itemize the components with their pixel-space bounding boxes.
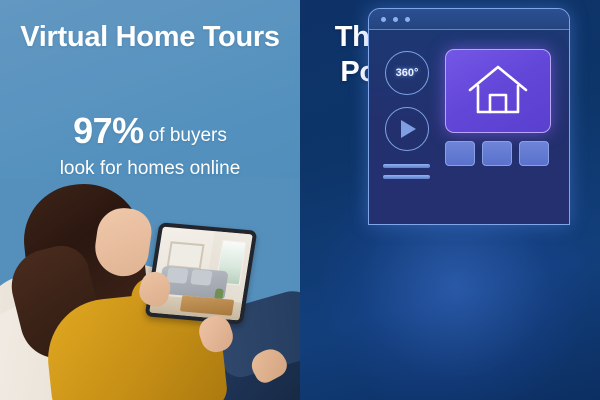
thumbnail-item[interactable] xyxy=(482,141,512,166)
badge-360-icon[interactable]: 360° xyxy=(385,51,429,95)
left-photo xyxy=(0,178,300,400)
room-cushion-right xyxy=(190,269,212,286)
device-illustration: 360° xyxy=(368,8,570,225)
infographic-canvas: Virtual Home Tours 97%of buyers look for… xyxy=(0,0,600,400)
room-cushion-left xyxy=(166,267,188,284)
detail-bar xyxy=(383,175,430,179)
window-dot-icon xyxy=(381,17,386,22)
right-panel: The New Starting Point for Buyers 43%sta… xyxy=(300,0,600,400)
room-plant xyxy=(214,288,224,299)
device-titlebar xyxy=(369,9,569,30)
left-panel: Virtual Home Tours 97%of buyers look for… xyxy=(0,0,300,400)
house-icon xyxy=(446,50,550,132)
photo-tablet-screen xyxy=(149,227,252,321)
detail-bar xyxy=(383,164,430,168)
play-button-icon[interactable] xyxy=(385,107,429,151)
thumbnail-item[interactable] xyxy=(445,141,475,166)
window-dot-icon xyxy=(393,17,398,22)
window-dot-icon xyxy=(405,17,410,22)
thumbnail-item[interactable] xyxy=(519,141,549,166)
left-stat-lead: of buyers xyxy=(144,125,227,146)
left-stat-value: 97% xyxy=(73,110,144,151)
tour-viewer-panel[interactable] xyxy=(445,49,551,133)
left-stat-block: 97%of buyers look for homes online xyxy=(0,108,300,181)
left-headline: Virtual Home Tours xyxy=(0,20,300,55)
